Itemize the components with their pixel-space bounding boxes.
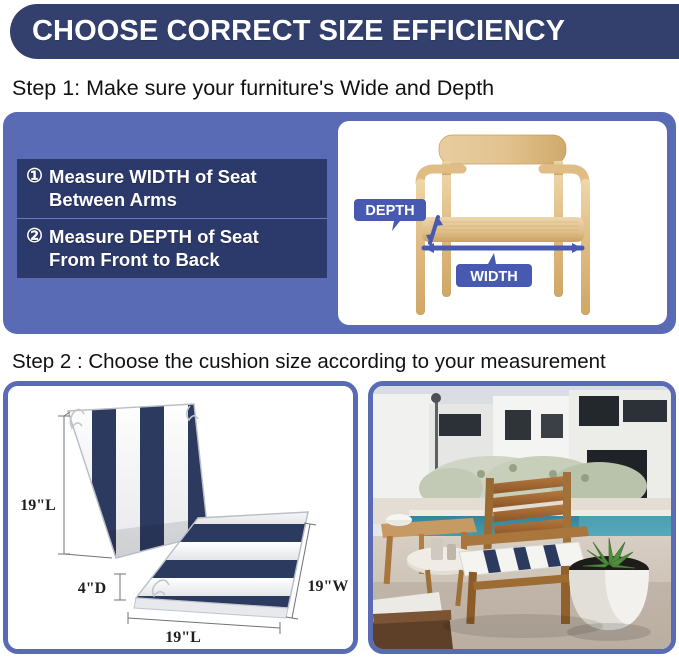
measure-instruction-list: ① Measure WIDTH of Seat Between Arms ② M…	[17, 159, 327, 278]
dimension-label-thickness: 4"D	[78, 580, 106, 597]
list-item-text-2: Measure DEPTH of Seat From Front to Back	[49, 225, 259, 271]
depth-callout-badge: DEPTH	[354, 199, 426, 231]
page-title: CHOOSE CORRECT SIZE EFFICIENCY	[10, 15, 565, 48]
patio-scene-image	[373, 386, 671, 649]
step2-heading: Step 2 : Choose the cushion size accordi…	[12, 350, 606, 374]
depth-label: DEPTH	[365, 203, 414, 219]
patio-lifestyle-photo-card	[368, 381, 676, 654]
step1-heading: Step 1: Make sure your furniture's Wide …	[12, 76, 494, 101]
cushion-diagram-card: 19"L 4"D 19"L 19"W	[3, 381, 358, 654]
dimension-label-back-height: 19"L	[20, 497, 56, 514]
list-number-1: ①	[26, 165, 43, 188]
dimension-label-seat-width: 19"W	[308, 578, 349, 595]
measure-line-2a: Measure DEPTH of Seat	[49, 226, 259, 247]
cushion-illustration: 19"L 4"D 19"L 19"W	[8, 386, 353, 649]
header-banner: CHOOSE CORRECT SIZE EFFICIENCY	[10, 4, 679, 59]
list-number-2: ②	[26, 225, 43, 248]
width-label: WIDTH	[470, 269, 518, 285]
step1-panel: ① Measure WIDTH of Seat Between Arms ② M…	[3, 112, 676, 334]
measure-line-2b: From Front to Back	[49, 249, 220, 270]
measure-line-1a: Measure WIDTH of Seat	[49, 166, 257, 187]
chair-illustration: DEPTH WIDTH	[338, 121, 667, 325]
list-item: ② Measure DEPTH of Seat From Front to Ba…	[17, 218, 327, 278]
list-item-text-1: Measure WIDTH of Seat Between Arms	[49, 165, 257, 211]
width-callout-badge: WIDTH	[456, 253, 532, 287]
measure-line-1b: Between Arms	[49, 189, 177, 210]
chair-diagram-card: DEPTH WIDTH	[338, 121, 667, 325]
dimension-label-seat-length: 19"L	[165, 629, 201, 646]
infographic-page: CHOOSE CORRECT SIZE EFFICIENCY Step 1: M…	[0, 0, 679, 658]
list-item: ① Measure WIDTH of Seat Between Arms	[17, 159, 327, 218]
